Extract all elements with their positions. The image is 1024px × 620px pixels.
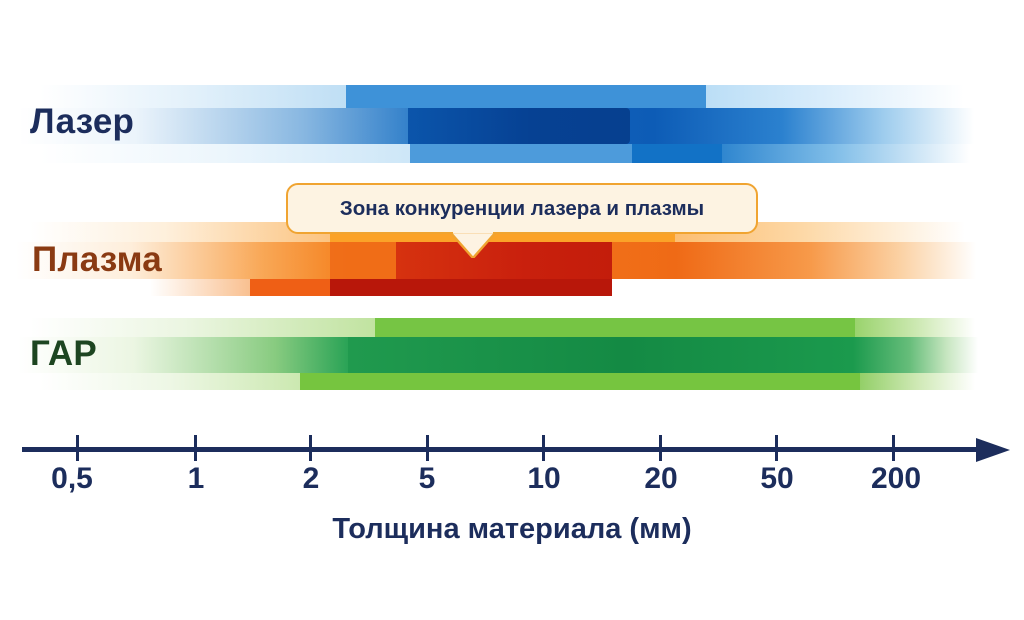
band-label-laser: Лазер bbox=[30, 102, 134, 142]
plasma-bottom-stripe-solid bbox=[250, 279, 330, 296]
gar-top-stripe bbox=[0, 318, 1024, 337]
plasma-top-stripe-fade bbox=[30, 222, 330, 242]
gar-top-stripe-solid bbox=[375, 318, 855, 337]
band-group-laser: Лазер bbox=[0, 85, 1024, 163]
plasma-core-segment bbox=[396, 242, 612, 279]
chart-canvas: Лазер Плазма bbox=[0, 0, 1024, 620]
laser-top-stripe bbox=[0, 85, 1024, 108]
laser-core-segment bbox=[408, 108, 630, 144]
gar-main-solid bbox=[348, 337, 853, 373]
axis-tick bbox=[892, 435, 895, 461]
axis-tick-label: 2 bbox=[303, 462, 320, 496]
competition-zone-callout: Зона конкуренции лазера и плазмы bbox=[286, 183, 758, 234]
gar-main-fade-out bbox=[853, 337, 978, 373]
axis-tick bbox=[659, 435, 662, 461]
laser-top-stripe-tail bbox=[706, 85, 964, 108]
laser-bottom-stripe-fade bbox=[40, 144, 410, 163]
axis-line bbox=[22, 447, 984, 452]
axis-tick-label: 0,5 bbox=[51, 462, 93, 496]
axis-tick bbox=[194, 435, 197, 461]
plasma-bottom-stripe-fade bbox=[150, 279, 250, 296]
gar-bottom-stripe bbox=[0, 373, 1024, 390]
axis-tick-label: 10 bbox=[527, 462, 560, 496]
plasma-mid-segment bbox=[330, 242, 396, 279]
band-label-gar: ГАР bbox=[30, 334, 97, 374]
axis-tick-label: 50 bbox=[760, 462, 793, 496]
axis-tick bbox=[76, 435, 79, 461]
laser-main-fade-out bbox=[654, 108, 974, 144]
axis-tick bbox=[309, 435, 312, 461]
plasma-bottom-stripe bbox=[0, 279, 1024, 296]
laser-main-stripe bbox=[0, 108, 1024, 144]
gar-main-stripe bbox=[0, 337, 1024, 373]
axis-tick bbox=[542, 435, 545, 461]
plasma-bottom-stripe-core bbox=[330, 279, 612, 296]
callout-tail-icon bbox=[450, 232, 496, 258]
axis-tick-label: 20 bbox=[644, 462, 677, 496]
laser-bottom-stripe bbox=[0, 144, 1024, 163]
axis-tick bbox=[775, 435, 778, 461]
gar-bottom-stripe-solid bbox=[300, 373, 860, 390]
band-group-gar: ГАР bbox=[0, 318, 1024, 390]
axis-title: Толщина материала (мм) bbox=[0, 513, 1024, 546]
laser-bottom-stripe-solid2 bbox=[632, 144, 722, 163]
gar-bottom-stripe-tail bbox=[860, 373, 975, 390]
axis-tick-label: 1 bbox=[188, 462, 205, 496]
laser-top-stripe-solid bbox=[346, 85, 706, 108]
gar-bottom-stripe-fade bbox=[40, 373, 300, 390]
band-label-plasma: Плазма bbox=[32, 240, 162, 280]
gar-top-stripe-tail bbox=[855, 318, 975, 337]
axis-tick-label: 5 bbox=[419, 462, 436, 496]
axis-tick bbox=[426, 435, 429, 461]
axis-tick-label: 200 bbox=[871, 462, 921, 496]
laser-bottom-stripe-solid bbox=[410, 144, 632, 163]
plasma-main-fade-out bbox=[676, 242, 976, 279]
callout-label: Зона конкуренции лазера и плазмы bbox=[340, 197, 704, 221]
axis-arrow-icon bbox=[976, 435, 1010, 465]
laser-bottom-stripe-tail bbox=[722, 144, 970, 163]
